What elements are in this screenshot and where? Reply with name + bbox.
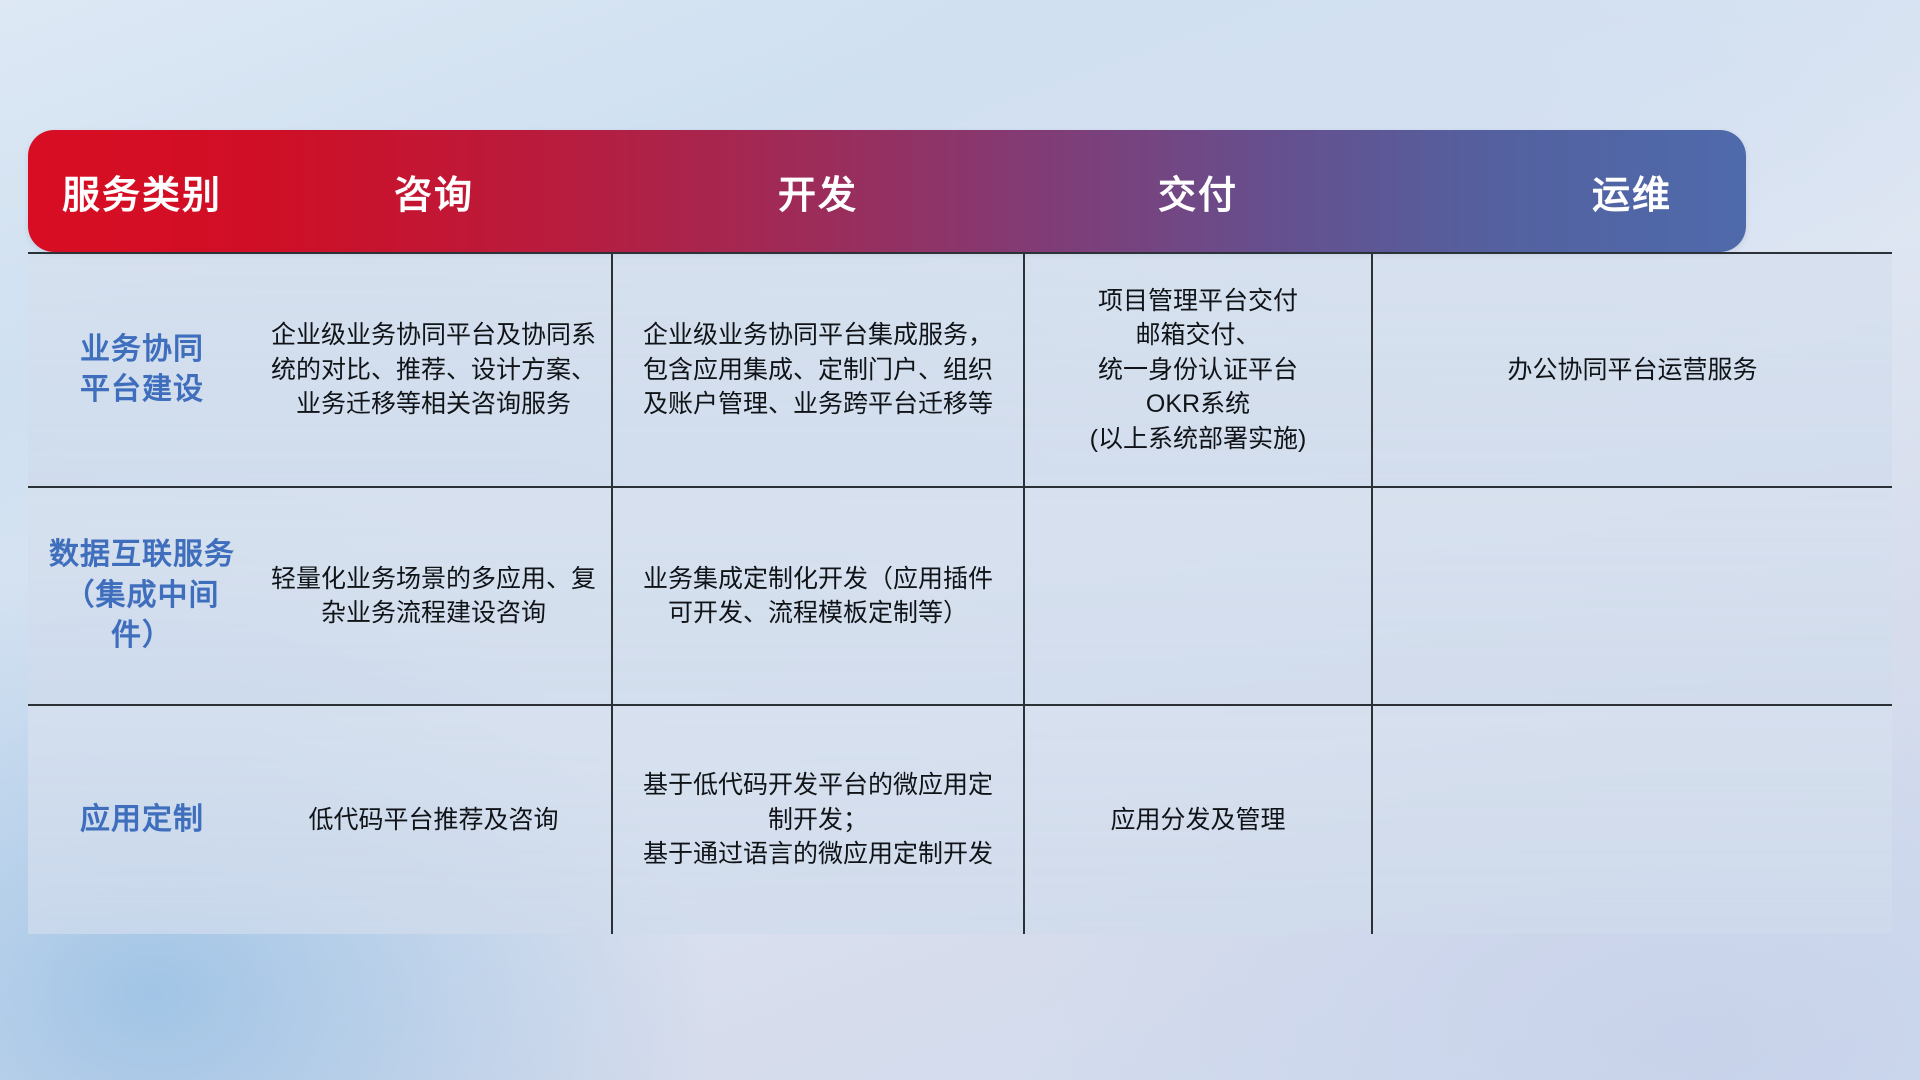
cell-operations-row3 (1372, 705, 1892, 934)
service-matrix-table: 服务类别 咨询 开发 交付 运维 业务协同 平台建设 企业级业务协同平台及协同系… (28, 130, 1892, 934)
cell-operations-row2 (1372, 487, 1892, 705)
cell-development-row1: 企业级业务协同平台集成服务， 包含应用集成、定制门户、组织 及账户管理、业务跨平… (612, 253, 1024, 487)
column-header-consulting: 咨询 (256, 130, 612, 253)
cell-consulting-row1: 企业级业务协同平台及协同系 统的对比、推荐、设计方案、 业务迁移等相关咨询服务 (256, 253, 612, 487)
column-header-delivery: 交付 (1024, 130, 1372, 253)
table-row: 应用定制 低代码平台推荐及咨询 基于低代码开发平台的微应用定 制开发； 基于通过… (28, 705, 1892, 934)
cell-delivery-row2 (1024, 487, 1372, 705)
cell-consulting-row3: 低代码平台推荐及咨询 (256, 705, 612, 934)
column-header-service-category: 服务类别 (28, 130, 256, 253)
row-label-application-customization: 应用定制 (28, 705, 256, 934)
cell-operations-row1: 办公协同平台运营服务 (1372, 253, 1892, 487)
table-body: 业务协同 平台建设 企业级业务协同平台及协同系 统的对比、推荐、设计方案、 业务… (28, 253, 1892, 934)
column-header-development: 开发 (612, 130, 1024, 253)
cell-development-row3: 基于低代码开发平台的微应用定 制开发； 基于通过语言的微应用定制开发 (612, 705, 1024, 934)
cell-development-row2: 业务集成定制化开发（应用插件 可开发、流程模板定制等） (612, 487, 1024, 705)
table-row: 业务协同 平台建设 企业级业务协同平台及协同系 统的对比、推荐、设计方案、 业务… (28, 253, 1892, 487)
service-matrix-table-wrapper: 服务类别 咨询 开发 交付 运维 业务协同 平台建设 企业级业务协同平台及协同系… (28, 130, 1892, 934)
column-header-operations: 运维 (1372, 130, 1892, 253)
slide-canvas: 服务类别 咨询 开发 交付 运维 业务协同 平台建设 企业级业务协同平台及协同系… (0, 0, 1920, 1080)
cell-delivery-row3: 应用分发及管理 (1024, 705, 1372, 934)
cell-consulting-row2: 轻量化业务场景的多应用、复 杂业务流程建设咨询 (256, 487, 612, 705)
row-label-data-interconnect-service: 数据互联服务 （集成中间件） (28, 487, 256, 705)
cell-delivery-row1: 项目管理平台交付 邮箱交付、 统一身份认证平台 OKR系统 (以上系统部署实施) (1024, 253, 1372, 487)
table-header-row: 服务类别 咨询 开发 交付 运维 (28, 130, 1892, 253)
row-label-business-collaboration-platform: 业务协同 平台建设 (28, 253, 256, 487)
table-header: 服务类别 咨询 开发 交付 运维 (28, 130, 1892, 253)
table-row: 数据互联服务 （集成中间件） 轻量化业务场景的多应用、复 杂业务流程建设咨询 业… (28, 487, 1892, 705)
